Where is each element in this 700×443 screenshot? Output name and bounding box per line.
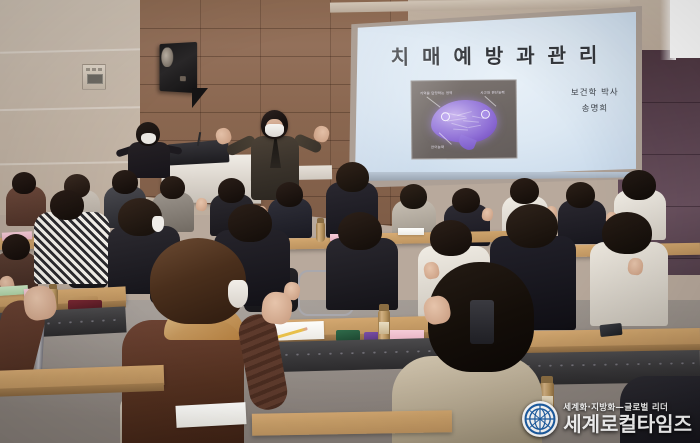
audience-head xyxy=(452,188,480,213)
handout-paper xyxy=(175,402,246,428)
bottle-cap xyxy=(379,304,389,311)
panel-perforation xyxy=(648,362,651,365)
globe-grid-icon xyxy=(522,401,558,437)
water-bottle xyxy=(316,222,325,242)
smartphone[interactable] xyxy=(599,323,622,337)
audience-head xyxy=(228,204,272,242)
brain-label: 언어능력 xyxy=(431,144,444,149)
brain-label: 사고와 판단능력 xyxy=(480,90,505,95)
audience-face-mask xyxy=(152,216,164,232)
audience-head xyxy=(338,212,382,250)
panel-perforation xyxy=(91,319,94,322)
panel-perforation xyxy=(285,353,288,356)
audience-torso xyxy=(590,242,668,326)
audience-head xyxy=(602,212,652,254)
credit-degree: 보건학 박사 xyxy=(571,85,619,102)
wall-control-panel-icon[interactable] xyxy=(82,64,106,90)
panel-perforation xyxy=(47,321,50,324)
wall-speaker-icon xyxy=(160,42,198,93)
panel-perforation xyxy=(80,320,83,323)
panel-perforation xyxy=(296,352,299,355)
audience-head xyxy=(430,220,472,256)
panel-perforation xyxy=(428,349,431,352)
panel-perforation xyxy=(538,364,541,367)
panel-perforation xyxy=(615,362,618,365)
lecture-hall-photo: 치 매 예 방 과 관 리 기억을 담당하는 영역 사고와 판단능력 언어능력 … xyxy=(0,0,700,443)
panel-perforation xyxy=(593,363,596,366)
audience-raised-hand xyxy=(260,291,293,326)
speaker-cone xyxy=(161,47,173,67)
audience-head xyxy=(218,178,245,203)
panel-perforation xyxy=(351,351,354,354)
audience-head xyxy=(506,204,558,248)
audience-head xyxy=(276,182,303,207)
panel-perforation xyxy=(582,363,585,366)
slide-title: 치 매 예 방 과 관 리 xyxy=(355,38,636,70)
panel-perforation xyxy=(692,361,695,364)
audience-head xyxy=(400,184,427,209)
handout-paper xyxy=(398,228,424,235)
audience-head xyxy=(510,178,539,204)
panel-perforation xyxy=(395,350,398,353)
audience-head xyxy=(336,162,369,192)
panel-perforation xyxy=(681,361,684,364)
panel-perforation xyxy=(549,364,552,367)
panel-perforation xyxy=(318,352,321,355)
panel-button[interactable] xyxy=(92,68,96,71)
speaker-badge xyxy=(180,76,186,81)
panel-button[interactable] xyxy=(98,68,102,71)
bottle-label xyxy=(379,322,389,334)
brain-fold xyxy=(454,128,469,130)
slide-brain-image: 기억을 담당하는 영역 사고와 판단능력 언어능력 xyxy=(411,79,518,159)
brain-fold xyxy=(468,125,481,128)
panel-perforation xyxy=(626,362,629,365)
window-blowout xyxy=(670,0,700,58)
panel-perforation xyxy=(406,350,409,353)
presenter-face-mask xyxy=(265,124,284,137)
desk xyxy=(252,410,452,435)
brain-label: 기억을 담당하는 영역 xyxy=(420,90,452,95)
brain-fold xyxy=(458,111,472,116)
audience-head xyxy=(2,234,30,260)
audience-head xyxy=(160,176,185,199)
panel-perforation xyxy=(384,350,387,353)
panel-perforation xyxy=(340,351,343,354)
slide-presenter-credit: 보건학 박사 송명희 xyxy=(571,85,619,118)
brain-fold xyxy=(463,120,479,122)
panel-display xyxy=(87,74,103,84)
watermark-text: 세계화·지방화—글로벌 리더 세계로컬타임즈 xyxy=(563,404,692,435)
panel-perforation xyxy=(417,349,420,352)
panel-perforation xyxy=(659,362,662,365)
panel-perforation xyxy=(560,363,563,366)
bottle-cap xyxy=(541,376,553,383)
audience-raised-hand xyxy=(481,207,494,222)
credit-name: 송명희 xyxy=(571,101,619,118)
panel-perforation xyxy=(102,318,105,321)
bottle-cap xyxy=(317,218,324,223)
brain-leader-line xyxy=(426,97,440,108)
audience-torso-houndstooth xyxy=(34,212,110,284)
audience-head xyxy=(50,190,84,220)
panel-perforation xyxy=(362,351,365,354)
hair-clip xyxy=(470,300,494,344)
panel-button[interactable] xyxy=(86,68,90,71)
panel-perforation xyxy=(307,352,310,355)
assistant-body xyxy=(128,142,170,178)
panel-perforation xyxy=(670,361,673,364)
watermark-tagline: 세계화·지방화—글로벌 리더 xyxy=(563,404,692,413)
panel-perforation xyxy=(637,362,640,365)
projection-screen: 치 매 예 방 과 관 리 기억을 담당하는 영역 사고와 판단능력 언어능력 … xyxy=(355,11,636,179)
panel-perforation xyxy=(58,321,61,324)
brain-fold xyxy=(451,122,468,128)
panel-perforation xyxy=(373,350,376,353)
audience-head xyxy=(622,170,656,200)
panel-perforation xyxy=(604,363,607,366)
panel-perforation xyxy=(113,318,116,321)
panel-perforation xyxy=(69,320,72,323)
audience-head xyxy=(112,170,138,194)
audience-head xyxy=(566,182,595,208)
panel-perforation xyxy=(571,363,574,366)
watermark: 세계화·지방화—글로벌 리더 세계로컬타임즈 xyxy=(522,401,692,437)
panel-perforation xyxy=(329,352,332,355)
watermark-name: 세계로컬타임즈 xyxy=(563,414,692,434)
assistant-face-mask xyxy=(141,133,156,144)
foreground-face-mask xyxy=(228,280,248,308)
audience-head xyxy=(12,172,36,194)
